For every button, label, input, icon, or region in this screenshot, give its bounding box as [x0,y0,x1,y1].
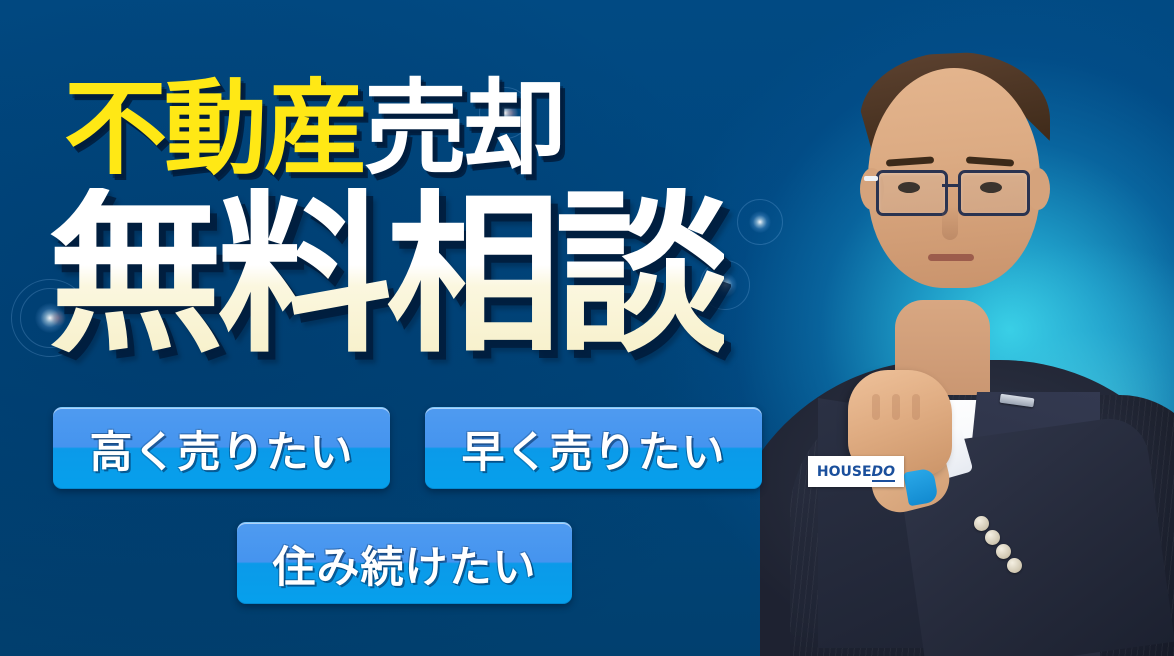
cta-button-keep-living[interactable]: 住み続けたい [237,522,572,604]
cta-button-sell-high[interactable]: 高く売りたい [53,407,390,489]
headline-line-1-rest: 売却 [364,78,564,181]
headline-line-2: 無料相談 [48,188,724,363]
glasses-lens-left [876,170,948,216]
knuckle [872,394,880,420]
logo-do-text: DO [872,464,896,482]
knuckle [912,394,920,420]
cta-button-label: 高く売りたい [90,418,354,480]
knuckle [892,394,900,420]
mouth [928,254,974,261]
promo-banner: HOUSEDO 不動産売却 無料相談 高く売りたい 早く売りたい 住み続けたい [0,0,1174,656]
cta-button-label: 早く売りたい [462,418,726,480]
sleeve-button [996,544,1011,559]
cta-button-sell-fast[interactable]: 早く売りたい [425,407,762,489]
headline-line-1: 不動産売却 [64,78,564,181]
glasses-lens-right [958,170,1030,216]
cta-button-label: 住み続けたい [273,533,537,595]
glasses-bridge [942,184,958,187]
housedo-logo-badge: HOUSEDO [808,456,904,487]
sleeve-button [985,530,1000,545]
sleeve-button [1007,558,1022,573]
glasses-temple [864,176,878,181]
housedo-logo-text: HOUSEDO [817,464,895,480]
logo-house-text: HOUSE [817,464,872,480]
nose [942,206,958,240]
sleeve-button [974,516,989,531]
headline-accent-text: 不動産 [64,78,364,181]
businessman-photo: HOUSEDO [760,0,1174,656]
